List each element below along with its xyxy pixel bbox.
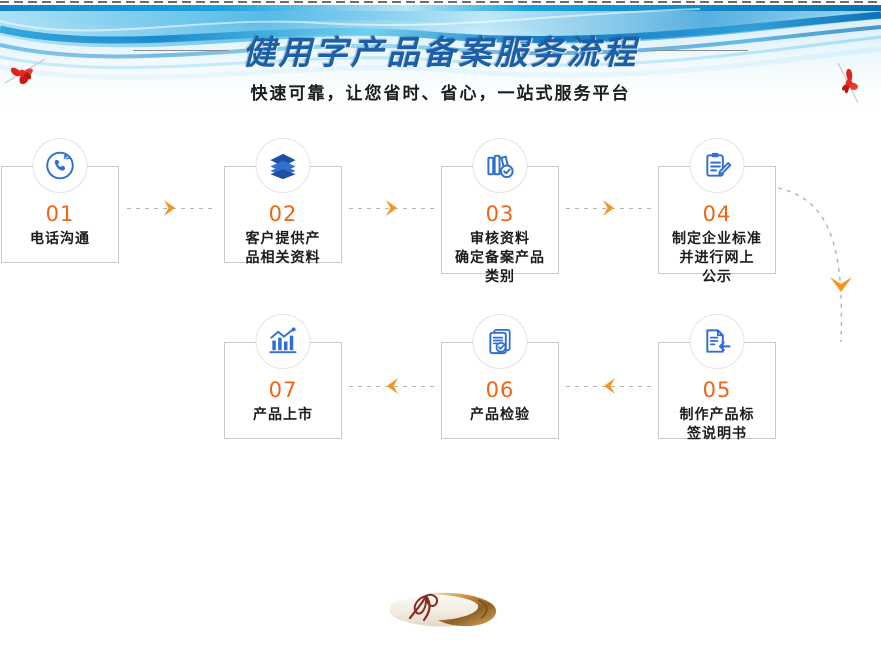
page-subtitle: 快速可靠，让您省时、省心，一站式服务平台	[0, 79, 881, 104]
connector-02-to-03	[349, 197, 434, 219]
certificate-check-icon	[473, 314, 528, 369]
flow-step-02[interactable]: 02 客户提供产 品相关资料	[224, 138, 342, 263]
connector-06-to-07	[349, 375, 434, 397]
flow-step-04[interactable]: 04 制定企业标准 并进行网上 公示	[658, 138, 776, 274]
clipboard-pencil-icon	[690, 138, 745, 193]
document-export-icon	[690, 314, 745, 369]
step-number: 03	[441, 202, 559, 226]
connector-01-to-02	[127, 197, 212, 219]
arrow-right-icon	[160, 197, 180, 224]
rolled-scroll-icon	[382, 580, 507, 642]
arrow-down-icon	[830, 277, 852, 292]
flow-step-07[interactable]: 07 产品上市	[224, 314, 342, 439]
flow-step-05[interactable]: 05 制作产品标 签说明书	[658, 314, 776, 439]
phone-call-icon	[33, 138, 88, 193]
arrow-right-icon	[599, 197, 619, 224]
header-banner: 健用字产品备案服务流程 快速可靠，让您省时、省心，一站式服务平台	[0, 5, 881, 120]
step-label: 电话沟通	[5, 230, 115, 249]
flow-step-06[interactable]: 06 产品检验	[441, 314, 559, 439]
step-label: 制作产品标 签说明书	[662, 406, 772, 444]
step-number: 07	[224, 378, 342, 402]
step-number: 02	[224, 202, 342, 226]
bar-chart-growth-icon	[256, 314, 311, 369]
arrow-left-icon	[382, 375, 402, 402]
step-number: 06	[441, 378, 559, 402]
red-ribbon-icon	[2, 49, 48, 100]
connector-03-to-04	[566, 197, 651, 219]
connector-05-to-06	[566, 375, 651, 397]
process-flow-diagram: 01 电话沟通 02 客户提供产 品相关资料	[0, 120, 881, 540]
page-title: 健用字产品备案服务流程	[0, 26, 881, 74]
step-label: 产品检验	[445, 406, 555, 425]
flow-step-01[interactable]: 01 电话沟通	[1, 138, 119, 263]
books-check-icon	[473, 138, 528, 193]
step-label: 审核资料 确定备案产品 类别	[445, 230, 555, 287]
layers-stack-icon	[256, 138, 311, 193]
step-number: 05	[658, 378, 776, 402]
connector-04-to-05	[770, 180, 881, 350]
dashed-curve	[778, 188, 841, 342]
step-number: 01	[1, 202, 119, 226]
red-ribbon-icon	[828, 57, 874, 112]
step-label: 产品上市	[228, 406, 338, 425]
arrow-right-icon	[382, 197, 402, 224]
arrow-left-icon	[599, 375, 619, 402]
step-number: 04	[658, 202, 776, 226]
step-label: 客户提供产 品相关资料	[228, 230, 338, 268]
step-label: 制定企业标准 并进行网上 公示	[662, 230, 772, 287]
flow-step-03[interactable]: 03 审核资料 确定备案产品 类别	[441, 138, 559, 274]
